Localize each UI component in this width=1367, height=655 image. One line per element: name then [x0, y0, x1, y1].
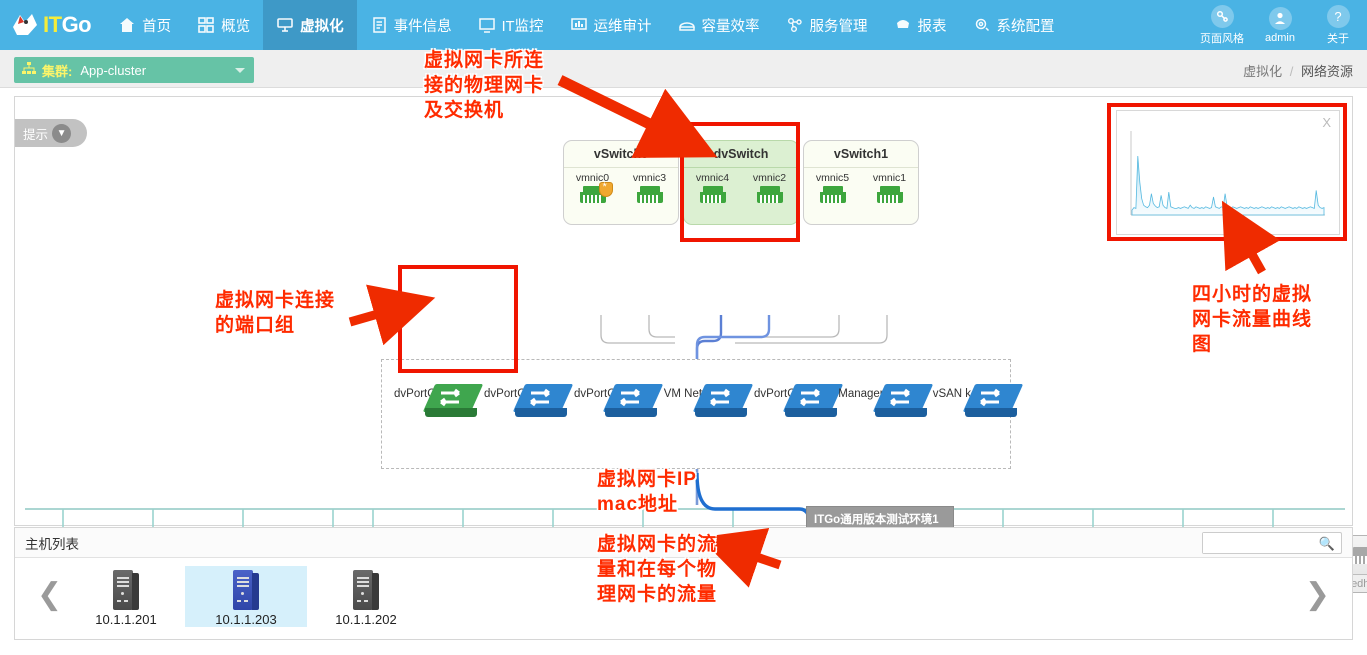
portgroup-item-1[interactable]: dvPortGro...: [475, 382, 555, 400]
annotation-line: 量和在每个物: [597, 557, 777, 582]
fox-logo-icon: [10, 11, 40, 39]
nav-label: 系统配置: [997, 15, 1055, 36]
nic-label: vmnic3: [625, 172, 675, 184]
vswitch-node-1[interactable]: vSwitch1 vmnic5 vmnic1: [803, 140, 919, 225]
nav-label: 首页: [142, 15, 171, 36]
tip-label: 提示: [23, 124, 48, 143]
network-jack-icon: [820, 186, 846, 203]
chevron-down-icon: ▼: [52, 124, 71, 143]
nav-item-report[interactable]: 报表: [881, 0, 960, 50]
vswitch-nic-row: vmnic0 vmnic3: [564, 168, 678, 208]
help-icon: ?: [1327, 5, 1350, 28]
cluster-bar: 集群: App-cluster 虚拟化 / 网络资源: [0, 50, 1367, 88]
search-icon[interactable]: 🔍: [1319, 536, 1335, 552]
breadcrumb-current: 网络资源: [1301, 64, 1353, 79]
annotation-line: 虚拟网卡的流: [597, 532, 777, 557]
nic-label: vmnic1: [865, 172, 915, 184]
top-navigation-bar: ITGo 首页 概览 虚拟化 事件信息: [0, 0, 1367, 50]
about-button[interactable]: ? 关于: [1309, 0, 1367, 50]
anno-ip-mac: 虚拟网卡IPmac地址: [597, 467, 777, 517]
host-list-title: 主机列表: [25, 533, 79, 553]
physical-nic-vmnic5[interactable]: vmnic5: [808, 172, 858, 208]
database-icon: [678, 16, 696, 34]
monitor-icon: [276, 16, 294, 34]
host-next-button[interactable]: ❯: [1305, 580, 1330, 610]
vswitch-title: vSwitch0: [564, 141, 678, 168]
network-jack-icon: [580, 186, 606, 203]
host-ip-label: 10.1.1.201: [65, 612, 187, 627]
portgroup-item-2[interactable]: dvPortGro...: [565, 382, 645, 400]
nav-label: 运维审计: [594, 15, 652, 36]
page-style-label: 页面风格: [1200, 30, 1244, 46]
nav-label: 服务管理: [810, 15, 868, 36]
breadcrumb-root[interactable]: 虚拟化: [1243, 64, 1282, 79]
cluster-icon: [22, 62, 36, 79]
nav-label: 概览: [221, 15, 250, 36]
tip-toggle-button[interactable]: 提示 ▼: [15, 119, 87, 147]
nav-item-events[interactable]: 事件信息: [357, 0, 465, 50]
list-icon: [370, 16, 388, 34]
nav-label: 虚拟化: [300, 15, 344, 36]
physical-nic-vmnic3[interactable]: vmnic3: [625, 172, 675, 208]
server-icon: [113, 570, 139, 610]
portgroup-item-3[interactable]: VM Network: [655, 382, 735, 400]
network-jack-icon: [637, 186, 663, 203]
screen-icon: [478, 16, 496, 34]
nav-item-home[interactable]: 首页: [105, 0, 184, 50]
host-prev-button[interactable]: ❮: [37, 580, 62, 610]
nav-label: 容量效率: [702, 15, 760, 36]
annotation-line: mac地址: [597, 492, 777, 517]
vswitch-node-0[interactable]: vSwitch0 vmnic0 vmnic3: [563, 140, 679, 225]
annotation-line: 虚拟网卡所连: [424, 48, 584, 73]
host-item-1[interactable]: 10.1.1.203: [185, 566, 307, 627]
nav-item-capacity[interactable]: 容量效率: [665, 0, 773, 50]
nav-item-virtualization[interactable]: 虚拟化: [263, 0, 357, 50]
portgroup-item-0[interactable]: dvPortGro...: [385, 382, 465, 400]
report-icon: [894, 16, 912, 34]
user-menu-button[interactable]: admin: [1251, 0, 1309, 50]
anno-chart: 四小时的虚拟网卡流量曲线图: [1192, 282, 1352, 357]
user-name-label: admin: [1265, 32, 1295, 44]
cluster-label: 集群:: [42, 61, 72, 80]
about-label: 关于: [1327, 30, 1349, 46]
anno-portgroup: 虚拟网卡连接的端口组: [215, 288, 375, 338]
highlight-box-dvswitch: [680, 122, 800, 242]
annotation-line: 网卡流量曲线: [1192, 307, 1352, 332]
server-icon: [353, 570, 379, 610]
portgroup-item-5[interactable]: Managemen...: [835, 382, 915, 400]
nav-item-service[interactable]: 服务管理: [773, 0, 881, 50]
annotation-line: 四小时的虚拟: [1192, 282, 1352, 307]
host-item-2[interactable]: 10.1.1.202: [305, 566, 427, 627]
server-icon: [233, 570, 259, 610]
nav-label: IT监控: [502, 15, 544, 36]
nic-label: vmnic5: [808, 172, 858, 184]
breadcrumb-separator: /: [1290, 64, 1294, 79]
highlight-box-chart: [1107, 103, 1347, 241]
physical-nic-vmnic1[interactable]: vmnic1: [865, 172, 915, 208]
annotation-line: 的端口组: [215, 313, 375, 338]
cluster-value: App-cluster: [80, 63, 146, 78]
breadcrumb: 虚拟化 / 网络资源: [1243, 61, 1353, 80]
nodes-icon: [786, 16, 804, 34]
anno-physical-nic: 虚拟网卡所连接的物理网卡及交换机: [424, 48, 584, 123]
page-style-button[interactable]: 页面风格: [1193, 0, 1251, 50]
home-icon: [118, 16, 136, 34]
host-item-0[interactable]: 10.1.1.201: [65, 566, 187, 627]
grid-icon: [197, 16, 215, 34]
gear-icon: [973, 16, 991, 34]
annotation-line: 虚拟网卡连接: [215, 288, 375, 313]
vswitch-nic-row: vmnic5 vmnic1: [804, 168, 918, 208]
brand-text: ITGo: [43, 12, 91, 38]
annotation-line: 理网卡的流量: [597, 582, 777, 607]
portgroup-item-4[interactable]: dvPortGro...: [745, 382, 825, 400]
highlight-box-portgroup: [398, 265, 518, 373]
anno-traffic: 虚拟网卡的流量和在每个物理网卡的流量: [597, 532, 777, 607]
network-jack-icon: [877, 186, 903, 203]
cluster-selector[interactable]: 集群: App-cluster: [14, 57, 254, 83]
physical-nic-vmnic0[interactable]: vmnic0: [568, 172, 618, 208]
chart-icon: [570, 16, 588, 34]
tooltip-title: ITGo通用版本测试环境1: [814, 511, 946, 527]
annotation-line: 图: [1192, 332, 1352, 357]
nav-item-it-monitor[interactable]: IT监控: [465, 0, 557, 50]
nav-item-settings[interactable]: 系统配置: [960, 0, 1068, 50]
annotation-line: 接的物理网卡: [424, 73, 584, 98]
host-search-box[interactable]: 🔍: [1202, 532, 1342, 554]
user-icon: [1269, 7, 1292, 30]
annotation-line: 及交换机: [424, 98, 584, 123]
portgroup-band: dvPortGro... dvPortGro... dvPo: [381, 359, 1011, 469]
brand-logo[interactable]: ITGo: [0, 11, 105, 39]
nav-item-audit[interactable]: 运维审计: [557, 0, 665, 50]
annotation-line: 虚拟网卡IP: [597, 467, 777, 492]
chevron-down-icon[interactable]: [235, 68, 245, 73]
host-ip-label: 10.1.1.202: [305, 612, 427, 627]
portgroup-item-6[interactable]: vSAN kern...: [925, 382, 1005, 400]
nav-item-overview[interactable]: 概览: [184, 0, 263, 50]
nav-label: 事件信息: [394, 15, 452, 36]
nav-label: 报表: [918, 15, 947, 36]
alert-shield-icon: [599, 182, 613, 197]
vswitch-title: vSwitch1: [804, 141, 918, 168]
host-ip-label: 10.1.1.203: [185, 612, 307, 627]
host-search-input[interactable]: [1203, 533, 1318, 553]
link-icon: [1211, 5, 1234, 28]
